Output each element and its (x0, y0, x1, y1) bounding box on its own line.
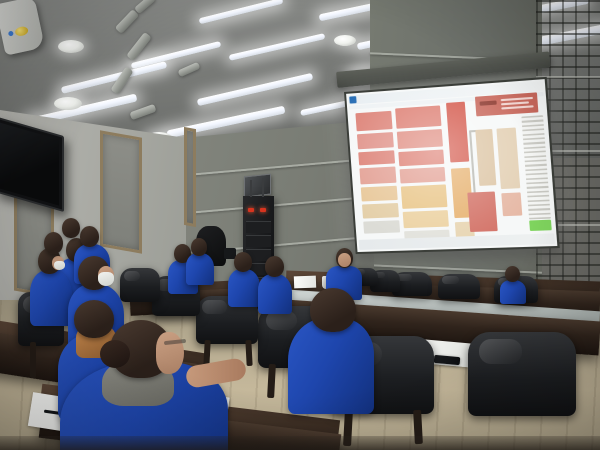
rack-status-led (248, 208, 254, 212)
projection-screen[interactable] (344, 77, 560, 254)
slide-block (358, 150, 395, 165)
ceiling-light-housing (115, 9, 140, 34)
slide-block (397, 129, 443, 149)
wall-panel (100, 130, 142, 253)
attendee-head (44, 232, 63, 254)
slide-block (475, 129, 496, 186)
slide-block (361, 186, 398, 202)
ceiling-strip-light (199, 0, 284, 24)
attendee-torso (258, 274, 292, 314)
presenter-face (338, 253, 351, 267)
chair-leg (245, 340, 252, 366)
wall-seam (182, 158, 373, 177)
slide-block (467, 191, 497, 232)
attendee-torso (228, 269, 260, 307)
rack-slot (246, 235, 271, 247)
slide-block (355, 111, 392, 131)
attendee-torso (30, 270, 72, 326)
ceiling-light-housing (126, 32, 152, 61)
slide-status-bar (359, 233, 555, 250)
camera-indicator-icon (8, 31, 14, 37)
attendee-head (80, 226, 99, 247)
rack-antenna (262, 178, 264, 197)
wall-seam (182, 196, 373, 215)
slide-block (400, 167, 446, 184)
tv-screen (0, 122, 59, 205)
attendee-head (265, 256, 284, 277)
attendee-torso (288, 318, 374, 414)
attendee-head (234, 252, 252, 272)
ceiling-strip-light (229, 33, 326, 61)
ceiling-strip-light (197, 73, 314, 106)
ceiling-light-housing (178, 62, 201, 77)
attendee-head (310, 288, 356, 332)
slide-right-list (521, 115, 552, 234)
slide-block (357, 132, 394, 149)
conference-chair[interactable] (468, 332, 576, 416)
conference-room-photo (0, 0, 600, 450)
slide-block (401, 184, 448, 208)
conference-chair[interactable] (438, 274, 480, 299)
wall-panel (184, 127, 196, 227)
face-mask (98, 272, 114, 286)
photo-bottom-edge (0, 436, 600, 450)
slide-second-column (395, 105, 449, 236)
ceiling-downlight (58, 40, 84, 53)
attendee-head (505, 266, 520, 282)
slide-left-red-column (355, 111, 400, 234)
rack-antenna (250, 180, 252, 197)
ceiling-camera-icon (0, 0, 45, 56)
ceiling-downlight (54, 97, 82, 110)
attendee-head (62, 218, 80, 238)
attendee-head (74, 300, 114, 338)
paper-sheet (294, 276, 316, 289)
slide-list-rows (521, 115, 551, 219)
rack-status-led (260, 208, 266, 212)
slide-block (395, 105, 441, 128)
ceiling-light-housing (134, 0, 156, 14)
ceiling-light-housing (129, 104, 156, 120)
slide-block (398, 149, 444, 166)
attendee-torso (186, 253, 214, 285)
slide-block (496, 127, 520, 189)
conference-chair[interactable] (120, 268, 160, 302)
slide-block (363, 220, 400, 233)
slide-tan-column (475, 129, 496, 188)
slide-block (501, 192, 522, 216)
hair-bun (100, 340, 130, 368)
chair-leg (30, 342, 36, 378)
camera-lens-icon (14, 26, 29, 38)
ceiling-downlight (334, 35, 356, 46)
attendee-torso (500, 280, 526, 304)
slide-block (446, 102, 469, 163)
attendee-head (191, 238, 207, 256)
slide-green-marker (529, 220, 552, 231)
slide-block (359, 166, 396, 184)
wall-speaker (244, 174, 271, 198)
foreground-face (156, 332, 184, 374)
face-mask (54, 261, 65, 270)
slide-toolbar-accent (349, 96, 356, 103)
rack-slot (246, 221, 271, 233)
slide-block (403, 210, 449, 228)
slide-block (362, 203, 399, 219)
